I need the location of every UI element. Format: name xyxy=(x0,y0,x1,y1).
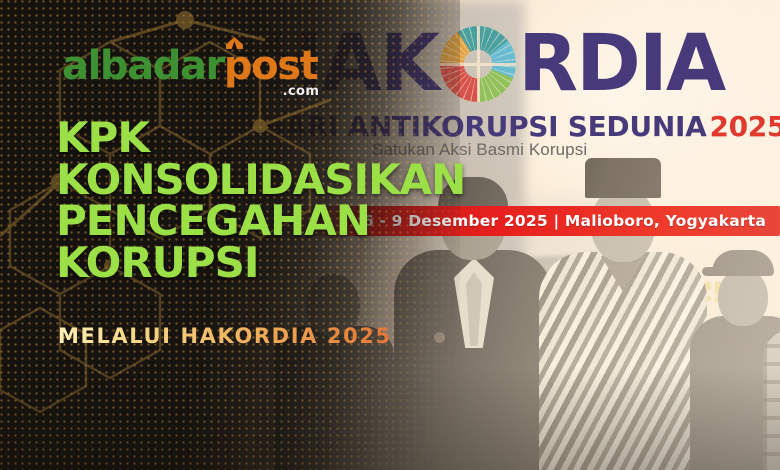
watermark-domain: .com xyxy=(283,84,320,99)
watermark-brand-post-wrap: post .com xyxy=(224,46,317,86)
headline-line-4: KORUPSI xyxy=(56,242,696,284)
watermark-brand-post: post xyxy=(224,43,317,89)
page-title: KPK KONSOLIDASIKAN PENCEGAHAN KORUPSI xyxy=(56,117,696,283)
headline-line-2: KONSOLIDASIKAN xyxy=(56,159,696,201)
watermark-brand-albadar: albadar xyxy=(62,46,224,86)
hakordia-logo-text-after: RDIA xyxy=(518,29,724,99)
page-subtitle: MELALUI HAKORDIA 2025 xyxy=(58,324,392,348)
hakordia-subtitle-year: 2025 xyxy=(709,110,780,143)
albadarpost-watermark-logo[interactable]: albadar post .com xyxy=(62,46,317,86)
headline-line-3: PENCEGAHAN xyxy=(56,200,696,242)
thumbnail-card: HAK RDIA HARI ANTIKORUPSI SEDUNIA2025 Sa… xyxy=(0,0,780,470)
headline-line-1: KPK xyxy=(56,117,696,159)
